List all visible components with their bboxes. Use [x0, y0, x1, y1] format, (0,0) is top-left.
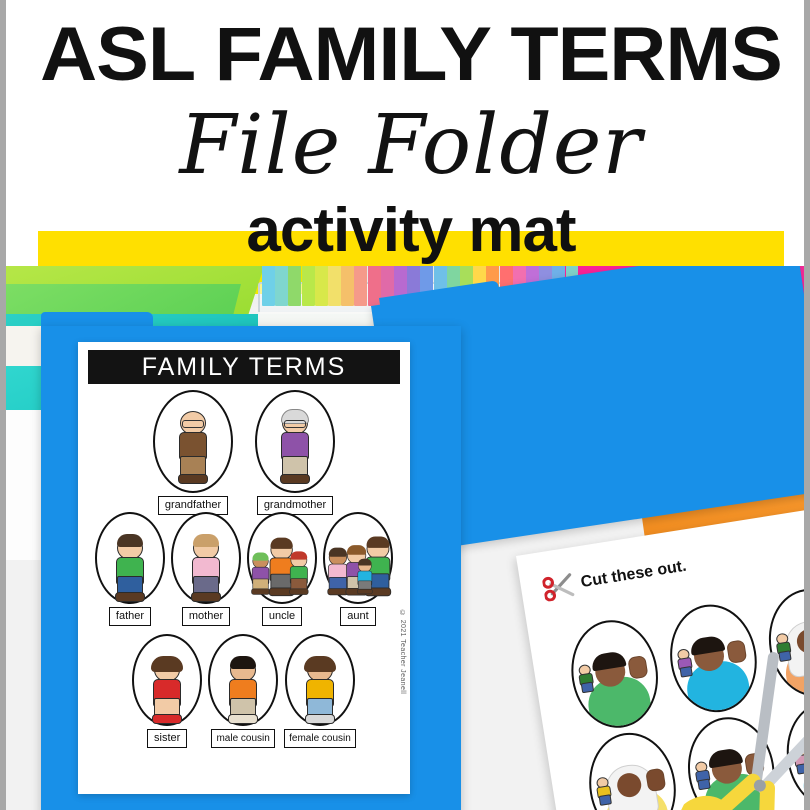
marker	[302, 262, 315, 306]
mat-title-bar: FAMILY TERMS	[88, 350, 400, 384]
mat-cell-father[interactable]: father	[95, 512, 165, 626]
cut-instruction-row: Cut these out.	[541, 554, 688, 602]
mini-legs	[581, 682, 594, 694]
oval-aunt	[323, 512, 393, 604]
figure-mother	[189, 536, 223, 596]
shoes	[228, 714, 258, 724]
mini-legs	[796, 763, 809, 775]
shoes	[305, 714, 335, 724]
label-sister: sister	[147, 729, 187, 748]
signing-hand	[645, 768, 666, 793]
figure-uncle-group	[254, 529, 310, 597]
hair	[806, 732, 810, 753]
cut-out-card[interactable]	[680, 711, 782, 810]
cut-out-card[interactable]	[564, 614, 666, 734]
marker	[341, 262, 354, 306]
signing-hand	[744, 752, 765, 777]
marker	[262, 262, 275, 306]
subtitle-script: File Folder	[6, 96, 810, 196]
mat-cell-sister[interactable]: sister	[132, 634, 202, 748]
shoes	[191, 592, 221, 602]
label-aunt: aunt	[340, 607, 375, 626]
signing-hand	[627, 655, 648, 680]
label-uncle: uncle	[262, 607, 302, 626]
mat-cell-grandfather[interactable]: grandfather	[153, 390, 233, 515]
shoes	[289, 588, 308, 594]
mat-title-text: FAMILY TERMS	[142, 353, 347, 382]
mat-cell-uncle[interactable]: uncle	[247, 512, 317, 626]
mini-figure	[791, 745, 810, 773]
label-father: father	[109, 607, 151, 626]
cut-out-card[interactable]	[663, 598, 765, 718]
oval-father	[95, 512, 165, 604]
shoes	[357, 589, 373, 594]
mini-legs	[697, 779, 710, 791]
oval-grandfather	[153, 390, 233, 493]
shoes	[178, 474, 208, 484]
mini-legs	[778, 650, 791, 662]
mat-cell-female-cousin[interactable]: female cousin	[284, 634, 356, 748]
label-male-cousin: male cousin	[211, 729, 274, 748]
figure-female-cousin	[303, 658, 337, 718]
hair	[151, 656, 183, 672]
oval-uncle	[247, 512, 317, 604]
hair	[270, 538, 292, 549]
page-title: ASL FAMILY TERMS	[0, 14, 810, 96]
glasses-icon	[182, 420, 204, 428]
mat-cell-male-cousin[interactable]: male cousin	[208, 634, 278, 748]
marker	[328, 262, 341, 306]
figure-aunt-group	[330, 529, 386, 597]
hair	[304, 656, 336, 672]
shoes	[152, 714, 182, 724]
figure-grandmother	[274, 411, 316, 485]
marker	[315, 262, 328, 306]
oval-male-cousin	[208, 634, 278, 726]
cut-out-card[interactable]	[582, 727, 684, 810]
figure-male-cousin	[226, 658, 260, 718]
oval-female-cousin	[285, 634, 355, 726]
hair	[230, 656, 256, 669]
mat-row-1: grandfather grandmother	[78, 390, 410, 515]
cut-instruction-text: Cut these out.	[580, 558, 688, 592]
mat-row-3: sister male cousin	[78, 634, 410, 748]
label-mother: mother	[182, 607, 230, 626]
label-female-cousin: female cousin	[284, 729, 356, 748]
hair	[358, 559, 372, 566]
glasses-icon	[284, 420, 306, 428]
cut-out-card[interactable]	[779, 695, 810, 810]
person-4	[356, 560, 374, 591]
figure-grandfather	[172, 411, 214, 485]
hair	[291, 551, 308, 559]
scissors-icon	[541, 572, 575, 602]
figure-father	[113, 536, 147, 596]
shoes	[115, 592, 145, 602]
marker	[354, 262, 367, 306]
hair	[367, 536, 390, 547]
mat-cell-aunt[interactable]: aunt	[323, 512, 393, 626]
product-photo: FAMILY TERMS © 2021 Teacher Jeanell	[6, 260, 810, 810]
promo-image-canvas: ASL FAMILY TERMS File Folder activity ma…	[0, 0, 810, 810]
shoes	[280, 474, 310, 484]
title-header: ASL FAMILY TERMS File Folder activity ma…	[6, 0, 810, 266]
signing-hand	[726, 639, 747, 664]
oval-mother	[171, 512, 241, 604]
cut-out-card[interactable]	[761, 583, 810, 703]
child-right	[288, 553, 310, 591]
mat-cell-mother[interactable]: mother	[171, 512, 241, 626]
oval-grandmother	[255, 390, 335, 493]
hair	[193, 534, 219, 547]
family-terms-mat: FAMILY TERMS © 2021 Teacher Jeanell	[78, 342, 410, 794]
oval-sister	[132, 634, 202, 726]
subtitle-activity-mat: activity mat	[6, 196, 810, 266]
marker	[288, 262, 301, 306]
marker	[275, 262, 288, 306]
figure-sister	[150, 658, 184, 718]
mini-legs	[680, 666, 693, 678]
mini-legs	[599, 794, 612, 806]
mat-cell-grandmother[interactable]: grandmother	[255, 390, 335, 515]
mat-row-2: father mother	[78, 512, 410, 626]
hair	[117, 534, 143, 547]
